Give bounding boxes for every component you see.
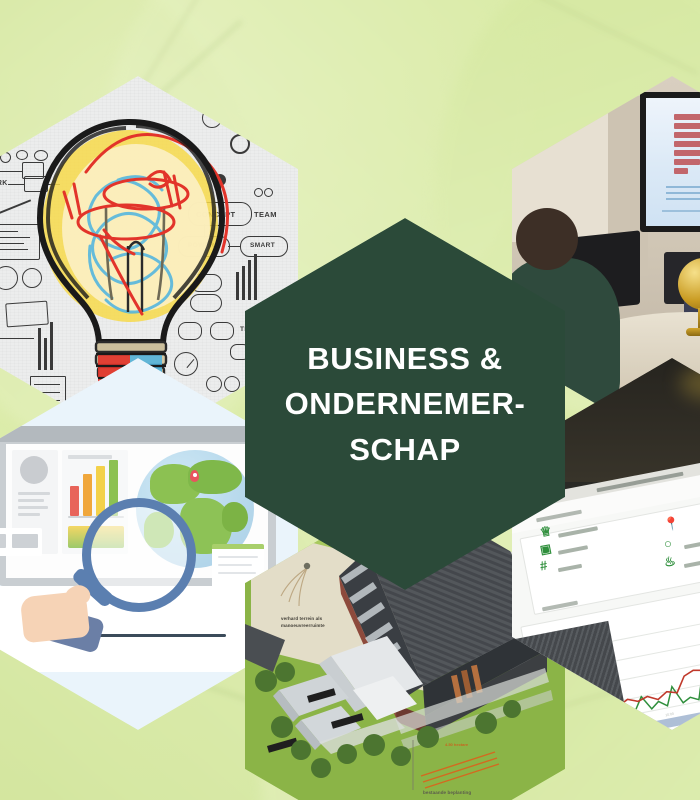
tree <box>271 716 293 738</box>
site-label-yard: verhard terrein als manoeuvreerruimte <box>281 616 343 629</box>
calendar-icon: ▣ <box>539 541 553 557</box>
tree <box>417 726 439 748</box>
screen-text-line <box>666 198 700 200</box>
student-head <box>516 208 578 270</box>
text-line <box>18 492 50 495</box>
bar-2 <box>83 474 92 516</box>
tree <box>475 712 497 734</box>
screen-text-line <box>666 192 700 194</box>
side-card-line <box>218 572 256 574</box>
site-label-area: 4.50 hectare <box>445 742 468 748</box>
screen-axis <box>662 210 700 212</box>
screen-bar <box>674 123 700 129</box>
site-label-planting: bestaande beplanting <box>423 790 489 797</box>
monitor-top-bar <box>0 426 276 442</box>
title-line-3: SCHAP <box>349 429 461 471</box>
text-line <box>18 499 44 502</box>
tree <box>291 740 311 760</box>
text-line <box>18 506 48 509</box>
screen-bar <box>674 141 700 147</box>
bar-1 <box>70 486 79 516</box>
bar-3 <box>96 466 105 516</box>
screen-text-line <box>666 186 700 188</box>
wall-display-screen <box>640 92 700 232</box>
globe-landmass <box>222 502 248 532</box>
avatar-circle <box>20 456 48 484</box>
poster-canvas: WORK <box>0 0 700 800</box>
title-line-1: BUSINESS & <box>307 338 502 380</box>
chart-card-title <box>68 455 112 459</box>
screen-bar <box>674 168 688 174</box>
screen-bar <box>674 114 700 120</box>
text-line <box>18 513 40 516</box>
location-pin-icon: 📍 <box>663 515 682 534</box>
title-line-2: ONDERNEMER- <box>285 383 526 425</box>
side-card-line <box>218 556 258 558</box>
note-text <box>0 534 6 548</box>
globe-base <box>686 328 700 336</box>
tree <box>255 670 277 692</box>
tree <box>275 662 295 682</box>
note-text <box>12 534 38 548</box>
map-pin-icon <box>190 470 199 482</box>
screen-bar <box>674 159 700 165</box>
tree <box>337 744 357 764</box>
tree <box>311 758 331 778</box>
screen-bar <box>674 132 700 138</box>
side-card-line <box>218 564 252 566</box>
tree <box>363 734 385 756</box>
tree <box>391 746 411 766</box>
screen-bar <box>674 150 700 156</box>
tree <box>503 700 521 718</box>
